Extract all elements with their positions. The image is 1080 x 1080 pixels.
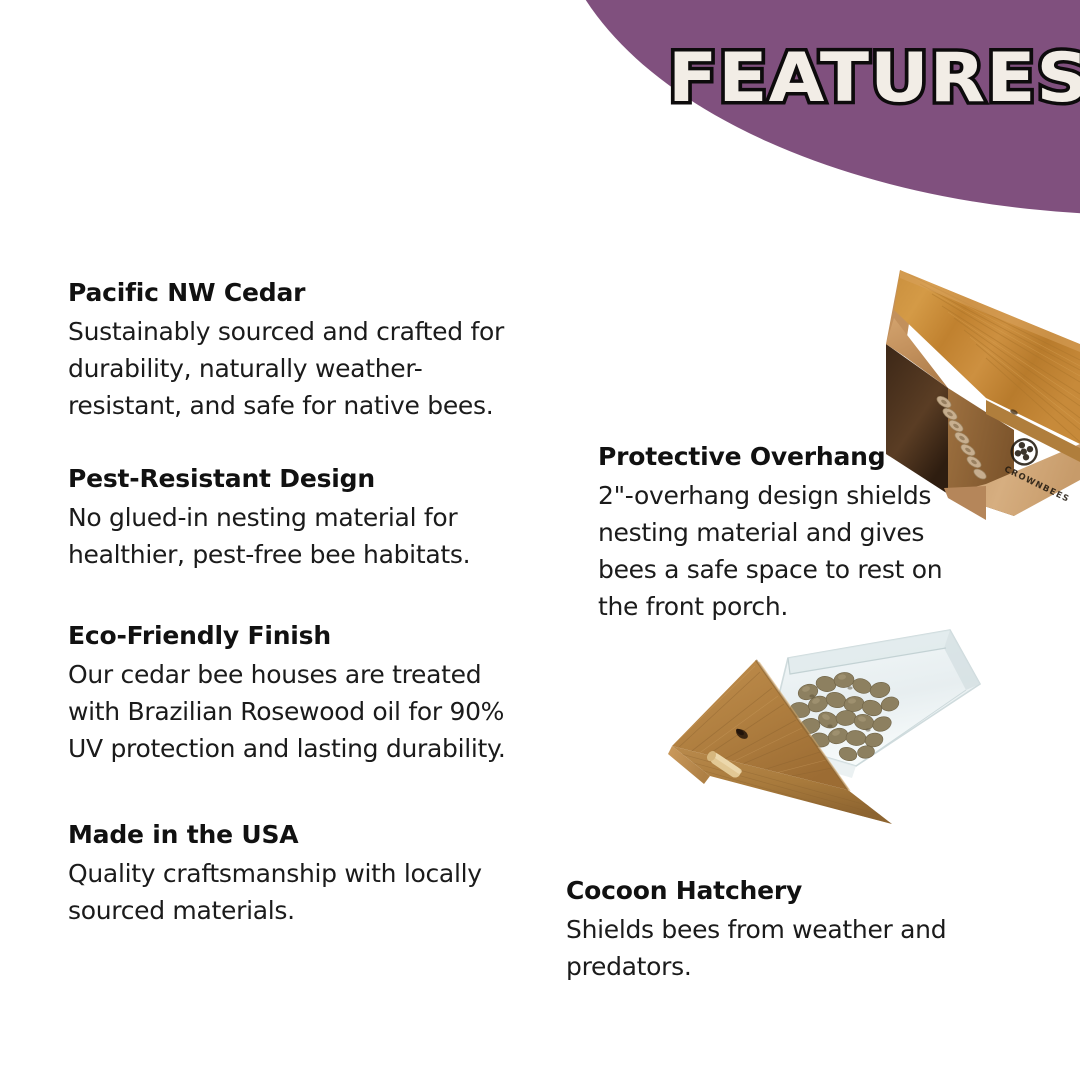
feature-body: Our cedar bee houses are treated with Br… xyxy=(68,656,548,767)
cocoon-hatchery-image xyxy=(660,618,990,873)
feature-block-cocoon-hatchery: Cocoon Hatchery Shields bees from weathe… xyxy=(566,874,986,985)
feature-block-made-in-the-usa: Made in the USA Quality craftsmanship wi… xyxy=(68,818,538,929)
feature-heading: Cocoon Hatchery xyxy=(566,874,986,908)
feature-body: Quality craftsmanship with locally sourc… xyxy=(68,855,538,929)
bee-house-image: CROWNBEES xyxy=(836,248,1080,538)
left-base-edge xyxy=(944,486,986,520)
feature-block-pest-resistant-design: Pest-Resistant Design No glued-in nestin… xyxy=(68,462,538,573)
feature-heading: Made in the USA xyxy=(68,818,538,852)
feature-heading: Pacific NW Cedar xyxy=(68,276,538,310)
feature-block-eco-friendly-finish: Eco-Friendly Finish Our cedar bee houses… xyxy=(68,619,548,767)
feature-body: Shields bees from weather and predators. xyxy=(566,911,986,985)
page-title: FEATURES xyxy=(668,40,1080,118)
feature-body: Sustainably sourced and crafted for dura… xyxy=(68,313,538,424)
feature-heading: Eco-Friendly Finish xyxy=(68,619,548,653)
feature-body: No glued-in nesting material for healthi… xyxy=(68,499,538,573)
nesting-cavity xyxy=(886,344,948,494)
feature-heading: Pest-Resistant Design xyxy=(68,462,538,496)
feature-block-pacific-nw-cedar: Pacific NW Cedar Sustainably sourced and… xyxy=(68,276,538,424)
